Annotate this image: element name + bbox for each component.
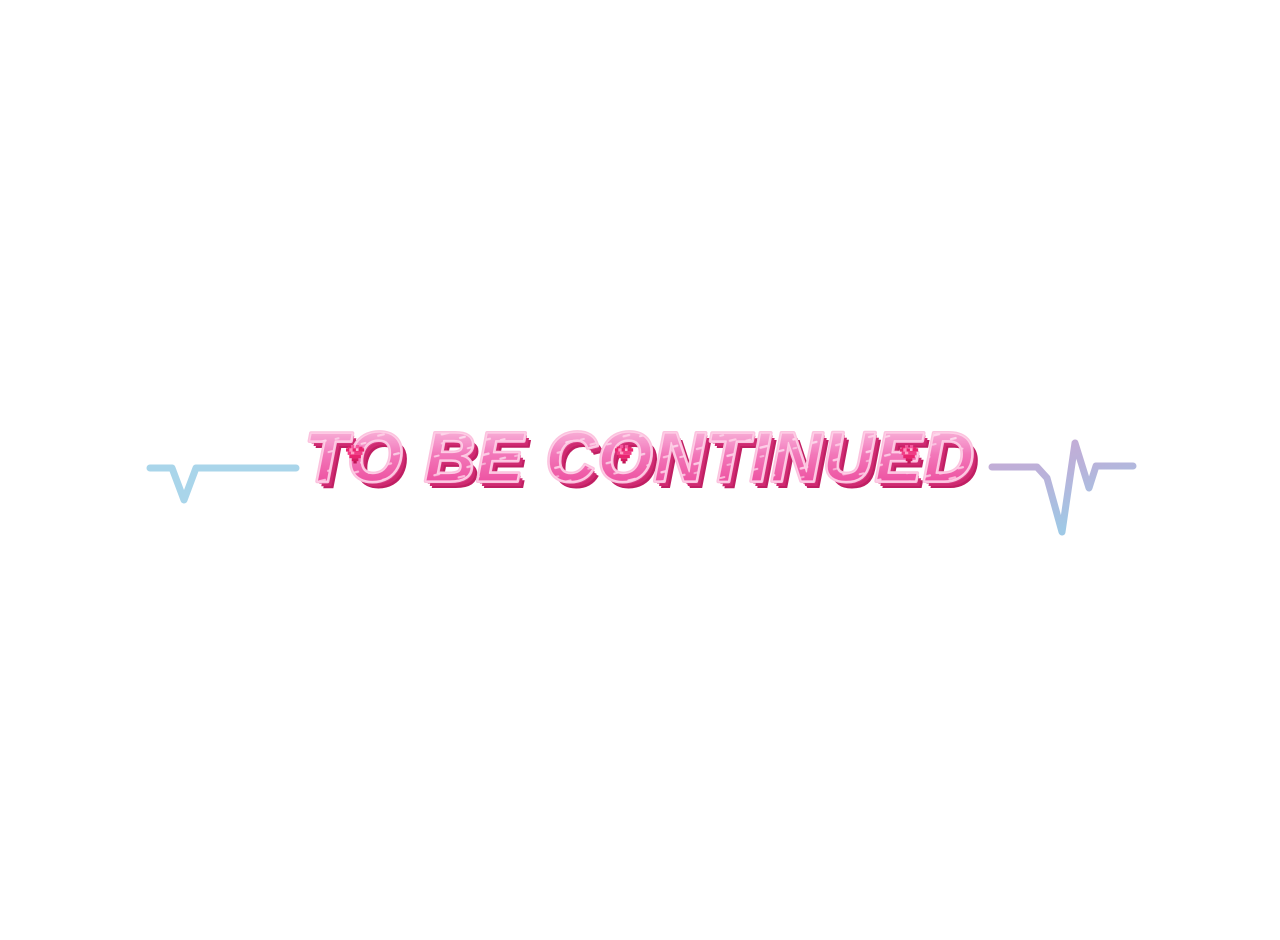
heartbeat-line-right: [0, 0, 1280, 940]
to-be-continued-banner: TO BE CONTINUED: [0, 0, 1280, 940]
heartbeat-right-path: [992, 443, 1133, 532]
canvas-root: TO BE CONTINUED: [0, 0, 1280, 940]
